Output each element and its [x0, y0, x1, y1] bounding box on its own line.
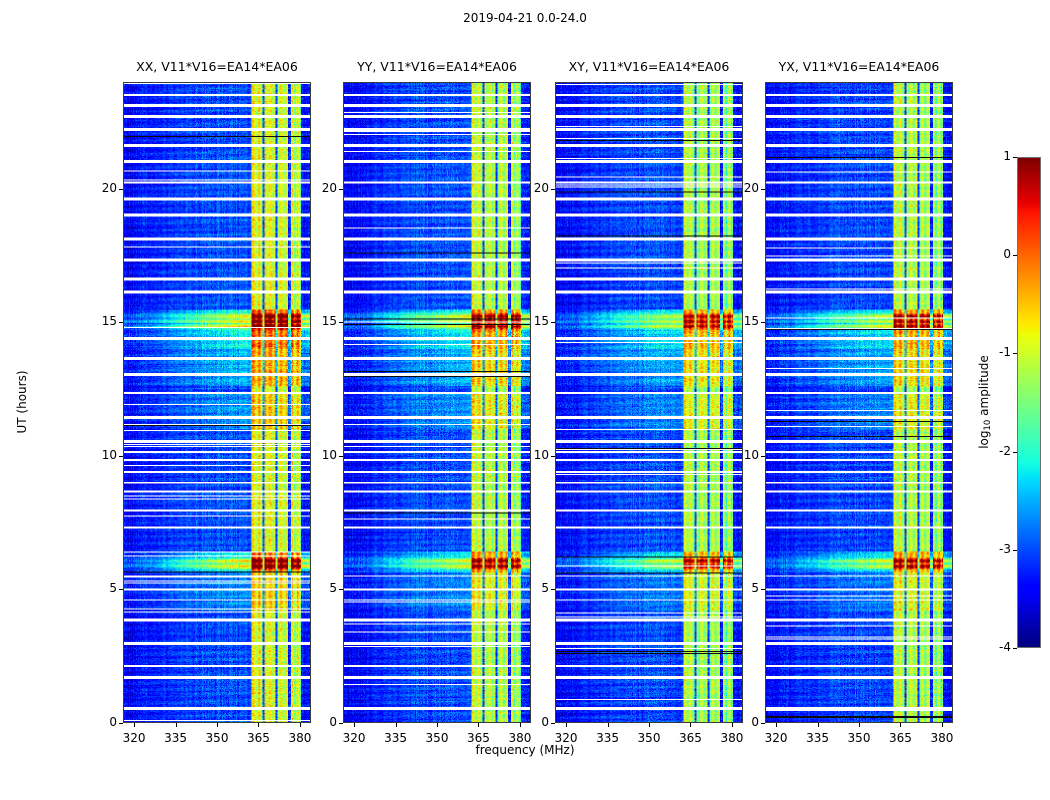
y-axis-label: UT (hours) — [15, 370, 29, 433]
y-axis-tick-mark — [119, 456, 123, 457]
y-axis-tick-mark — [339, 589, 343, 590]
y-axis-tick-label: 5 — [299, 581, 337, 595]
y-axis-tick-label: 15 — [79, 314, 117, 328]
y-axis-tick-mark — [339, 322, 343, 323]
colorbar-label-suffix: amplitude — [977, 355, 991, 419]
y-axis-tick-mark — [551, 322, 555, 323]
spectrogram-image-xx — [124, 83, 310, 722]
y-axis-tick-mark — [339, 189, 343, 190]
x-axis-tick-mark — [649, 723, 650, 727]
y-axis-tick-label: 5 — [511, 581, 549, 595]
x-axis-tick-mark — [900, 723, 901, 727]
colorbar-tick-mark — [1013, 157, 1017, 158]
spectrum-panel-yx[interactable]: YX, V11*V16=EA14*EA06 — [765, 82, 953, 723]
spectrum-panel-xy[interactable]: XY, V11*V16=EA14*EA06 — [555, 82, 743, 723]
x-axis-tick-label: 380 — [917, 731, 967, 745]
colorbar-tick-mark — [1013, 648, 1017, 649]
y-axis-tick-label: 20 — [79, 181, 117, 195]
spectrogram-image-yx — [766, 83, 952, 722]
y-axis-tick-label: 0 — [511, 715, 549, 729]
colorbar-label-subscript: 10 — [983, 420, 993, 431]
y-axis-tick-label: 10 — [511, 448, 549, 462]
y-axis-tick-mark — [551, 456, 555, 457]
colorbar-tick-label: -4 — [971, 640, 1011, 654]
x-axis-tick-mark — [690, 723, 691, 727]
y-axis-tick-mark — [551, 589, 555, 590]
y-axis-tick-label: 0 — [79, 715, 117, 729]
colorbar-tick-mark — [1013, 550, 1017, 551]
panel-title-yy: YY, V11*V16=EA14*EA06 — [357, 59, 517, 74]
spectrum-panel-yy[interactable]: YY, V11*V16=EA14*EA06 — [343, 82, 531, 723]
x-axis-tick-mark — [396, 723, 397, 727]
y-axis-tick-label: 5 — [79, 581, 117, 595]
spectrogram-image-yy — [344, 83, 530, 722]
x-axis-tick-mark — [217, 723, 218, 727]
x-axis-tick-label: 380 — [275, 731, 325, 745]
colorbar-tick-mark — [1013, 353, 1017, 354]
figure-suptitle: 2019-04-21 0.0-24.0 — [0, 11, 1050, 25]
y-axis-tick-mark — [761, 322, 765, 323]
x-axis-tick-mark — [818, 723, 819, 727]
panel-title-xy: XY, V11*V16=EA14*EA06 — [569, 59, 730, 74]
y-axis-tick-mark — [339, 456, 343, 457]
x-axis-tick-mark — [134, 723, 135, 727]
colorbar[interactable] — [1017, 157, 1041, 648]
x-axis-tick-mark — [354, 723, 355, 727]
y-axis-tick-mark — [119, 589, 123, 590]
x-axis-tick-mark — [942, 723, 943, 727]
x-axis-tick-mark — [176, 723, 177, 727]
y-axis-tick-mark — [761, 723, 765, 724]
x-axis-tick-mark — [478, 723, 479, 727]
y-axis-tick-mark — [339, 723, 343, 724]
y-axis-tick-mark — [761, 189, 765, 190]
y-axis-tick-label: 0 — [721, 715, 759, 729]
y-axis-tick-label: 10 — [79, 448, 117, 462]
y-axis-tick-label: 20 — [511, 181, 549, 195]
x-axis-tick-mark — [608, 723, 609, 727]
x-axis-tick-label: 380 — [707, 731, 757, 745]
y-axis-tick-mark — [551, 189, 555, 190]
y-axis-tick-mark — [119, 189, 123, 190]
x-axis-label: frequency (MHz) — [0, 743, 1050, 757]
x-axis-tick-mark — [258, 723, 259, 727]
y-axis-tick-mark — [761, 456, 765, 457]
y-axis-tick-label: 10 — [299, 448, 337, 462]
y-axis-tick-mark — [761, 589, 765, 590]
colorbar-tick-label: -3 — [971, 542, 1011, 556]
spectrum-panel-xx[interactable]: XX, V11*V16=EA14*EA06 — [123, 82, 311, 723]
colorbar-tick-label: -1 — [971, 345, 1011, 359]
y-axis-tick-label: 15 — [299, 314, 337, 328]
y-axis-tick-label: 15 — [721, 314, 759, 328]
colorbar-gradient — [1018, 158, 1040, 647]
x-axis-tick-mark — [437, 723, 438, 727]
y-axis-tick-label: 5 — [721, 581, 759, 595]
y-axis-tick-label: 15 — [511, 314, 549, 328]
y-axis-tick-label: 0 — [299, 715, 337, 729]
colorbar-tick-mark — [1013, 452, 1017, 453]
y-axis-tick-label: 10 — [721, 448, 759, 462]
spectrogram-image-xy — [556, 83, 742, 722]
y-axis-tick-mark — [551, 723, 555, 724]
y-axis-tick-label: 20 — [299, 181, 337, 195]
figure-canvas: 2019-04-21 0.0-24.0 UT (hours) frequency… — [0, 0, 1050, 800]
colorbar-tick-label: -2 — [971, 444, 1011, 458]
colorbar-tick-label: 0 — [971, 247, 1011, 261]
x-axis-tick-mark — [566, 723, 567, 727]
x-axis-tick-mark — [776, 723, 777, 727]
y-axis-tick-mark — [119, 322, 123, 323]
colorbar-tick-mark — [1013, 255, 1017, 256]
panel-title-xx: XX, V11*V16=EA14*EA06 — [136, 59, 298, 74]
y-axis-tick-label: 20 — [721, 181, 759, 195]
x-axis-tick-mark — [859, 723, 860, 727]
panel-title-yx: YX, V11*V16=EA14*EA06 — [779, 59, 940, 74]
colorbar-label: log10 amplitude — [977, 355, 993, 449]
x-axis-tick-label: 380 — [495, 731, 545, 745]
y-axis-tick-mark — [119, 723, 123, 724]
colorbar-tick-label: 1 — [971, 149, 1011, 163]
